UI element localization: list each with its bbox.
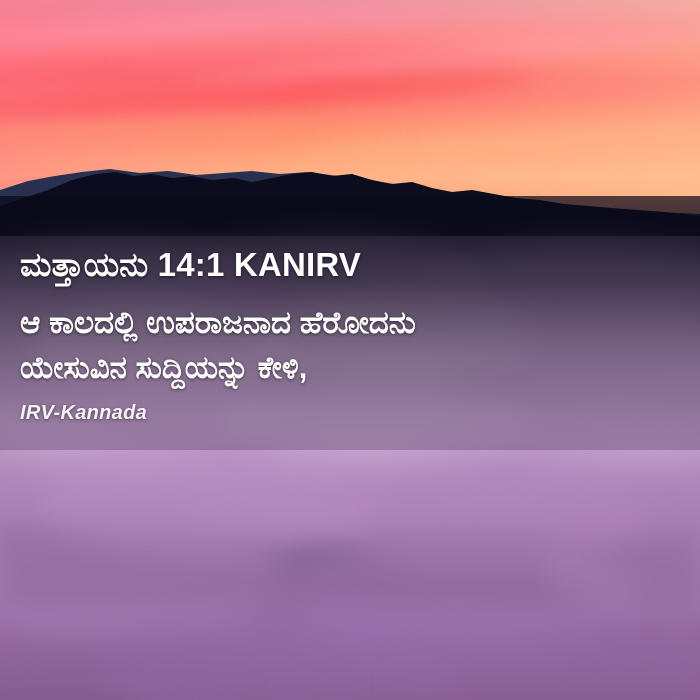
verse-text-line-2: ಯೇಸುವಿನ ಸುದ್ದಿಯನ್ನು ಕೇಳಿ,	[20, 350, 307, 387]
bible-version-attribution: IRV-Kannada	[20, 402, 147, 425]
verse-text-line-1: ಆ ಕಾಲದಲ್ಲಿ ಉಪರಾಜನಾದ ಹೆರೋದನು	[20, 305, 416, 342]
verse-reference: ಮತ್ತಾಯನು 14:1 KANIRV	[20, 246, 361, 285]
verse-image-canvas: ಮತ್ತಾಯನು 14:1 KANIRV ಆ ಕಾಲದಲ್ಲಿ ಉಪರಾಜನಾದ…	[0, 0, 700, 700]
verse-text-block: ಮತ್ತಾಯನು 14:1 KANIRV ಆ ಕಾಲದಲ್ಲಿ ಉಪರಾಜನಾದ…	[0, 0, 700, 700]
